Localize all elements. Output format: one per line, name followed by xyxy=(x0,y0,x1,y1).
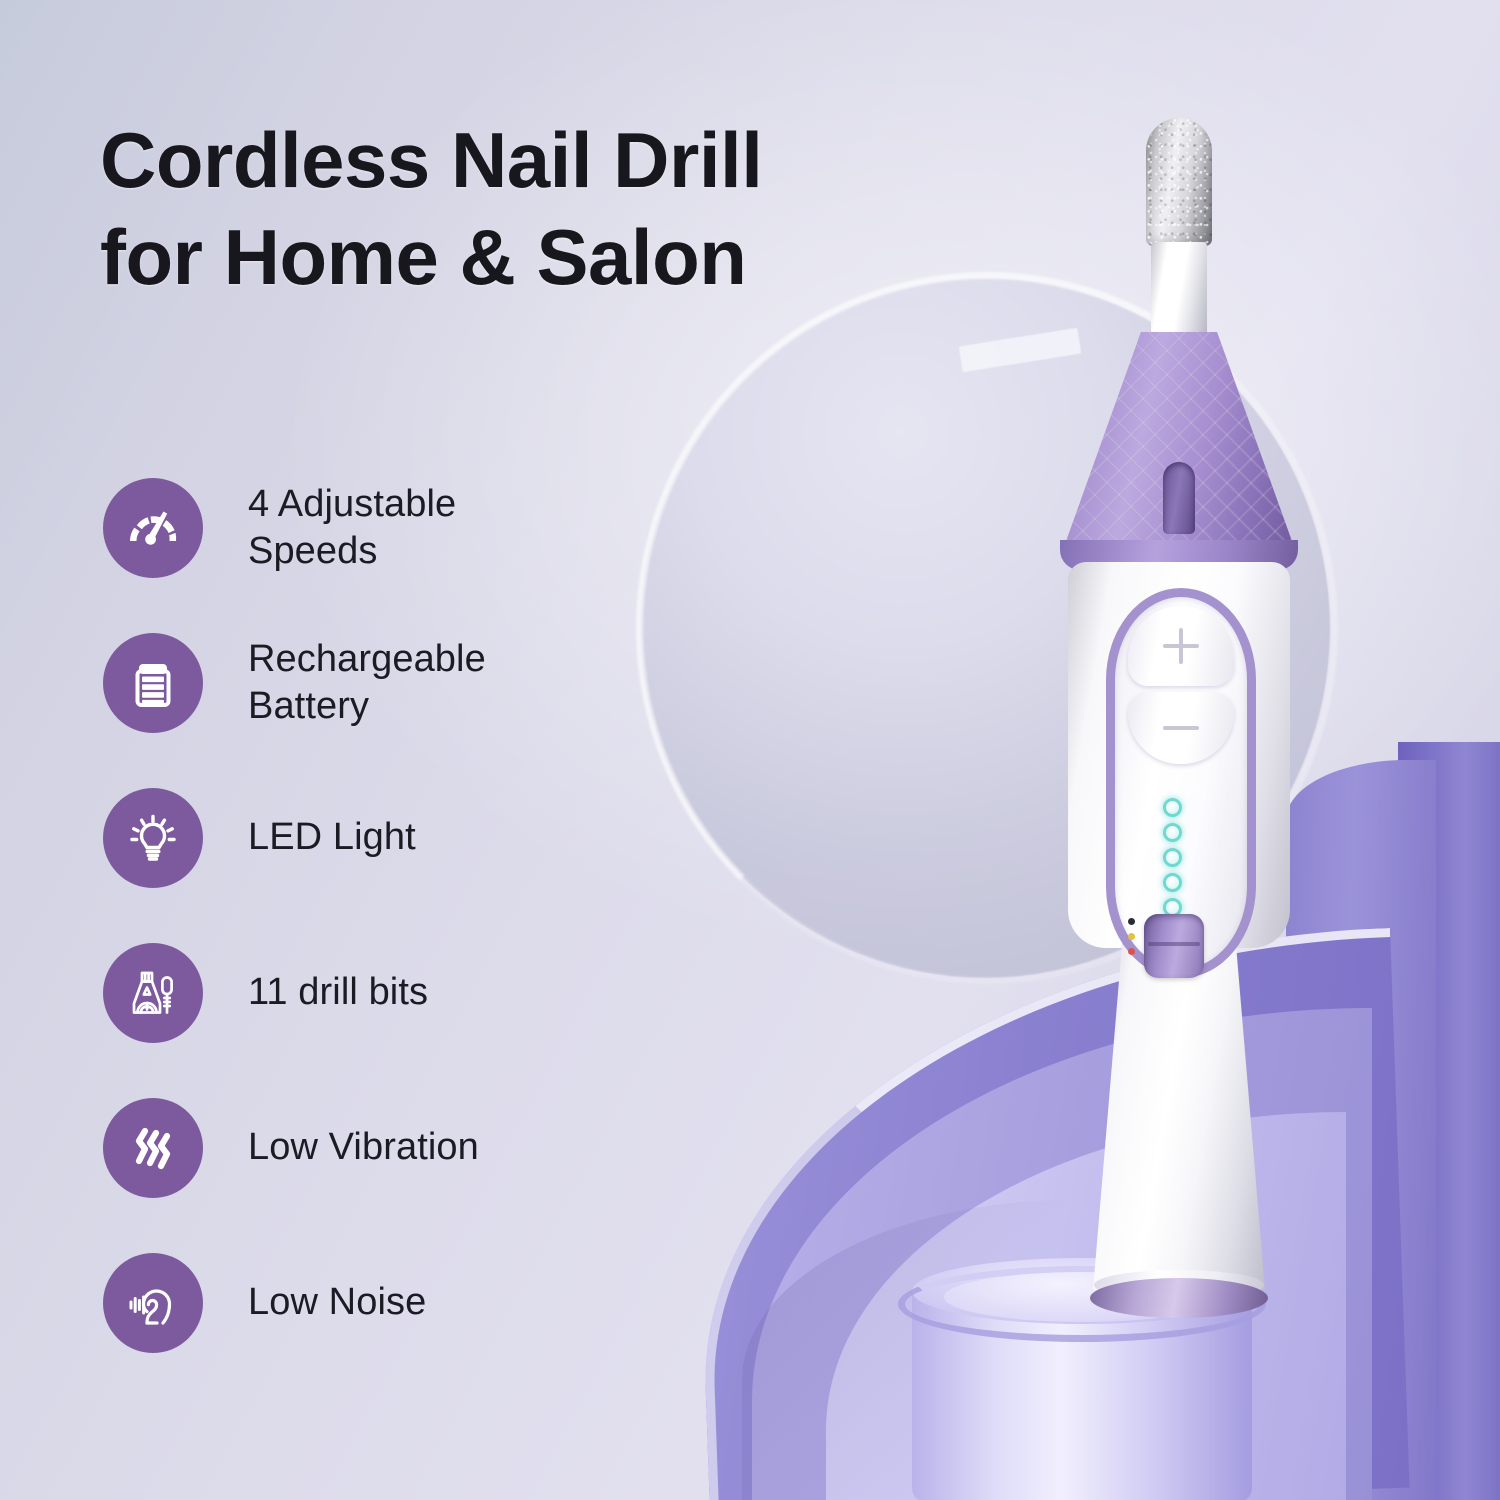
feature-label: Rechargeable Battery xyxy=(248,636,486,731)
device-base-ring xyxy=(1090,1278,1268,1318)
ear-sound-icon xyxy=(103,1253,203,1353)
vibration-icon xyxy=(103,1098,203,1198)
bit-collar xyxy=(1151,242,1207,340)
led-indicator-strip xyxy=(1158,798,1186,923)
title-line-2: for Home & Salon xyxy=(100,213,746,301)
feature-item-drill-bits: 11 drill bits xyxy=(103,943,663,1043)
feature-item-low-vibration: Low Vibration xyxy=(103,1098,663,1198)
sanding-grain-texture xyxy=(1146,118,1212,246)
sanding-bit-tip xyxy=(1146,118,1212,246)
device-body-lower xyxy=(1093,942,1265,1290)
power-slider-switch[interactable] xyxy=(1144,914,1204,978)
drill-bits-icon xyxy=(103,943,203,1043)
product-scene: Cordless Nail Drill for Home & Salon xyxy=(0,0,1500,1500)
led-indicator xyxy=(1163,873,1182,892)
feature-item-low-noise: Low Noise xyxy=(103,1253,663,1353)
feature-item-adjustable-speeds: 4 Adjustable Speeds xyxy=(103,478,663,578)
switch-indicator-dots xyxy=(1128,918,1135,963)
nail-drill-device xyxy=(1020,110,1340,1310)
feature-label: 4 Adjustable Speeds xyxy=(248,481,456,576)
led-indicator xyxy=(1163,848,1182,867)
battery-icon xyxy=(103,633,203,733)
feature-label: LED Light xyxy=(248,814,416,862)
title-line-1: Cordless Nail Drill xyxy=(100,116,762,204)
page-title: Cordless Nail Drill for Home & Salon xyxy=(100,112,960,305)
feature-item-rechargeable-battery: Rechargeable Battery xyxy=(103,633,663,733)
led-indicator xyxy=(1163,798,1182,817)
plus-icon xyxy=(1163,628,1199,664)
head-vent-slot xyxy=(1163,462,1195,534)
minus-icon xyxy=(1163,710,1199,746)
feature-label: Low Noise xyxy=(248,1279,426,1327)
feature-list: 4 Adjustable Speeds xyxy=(103,478,663,1408)
led-indicator xyxy=(1163,823,1182,842)
feature-label: 11 drill bits xyxy=(248,969,428,1017)
feature-item-led-light: LED Light xyxy=(103,788,663,888)
lightbulb-icon xyxy=(103,788,203,888)
speedometer-icon xyxy=(103,478,203,578)
feature-label: Low Vibration xyxy=(248,1124,479,1172)
